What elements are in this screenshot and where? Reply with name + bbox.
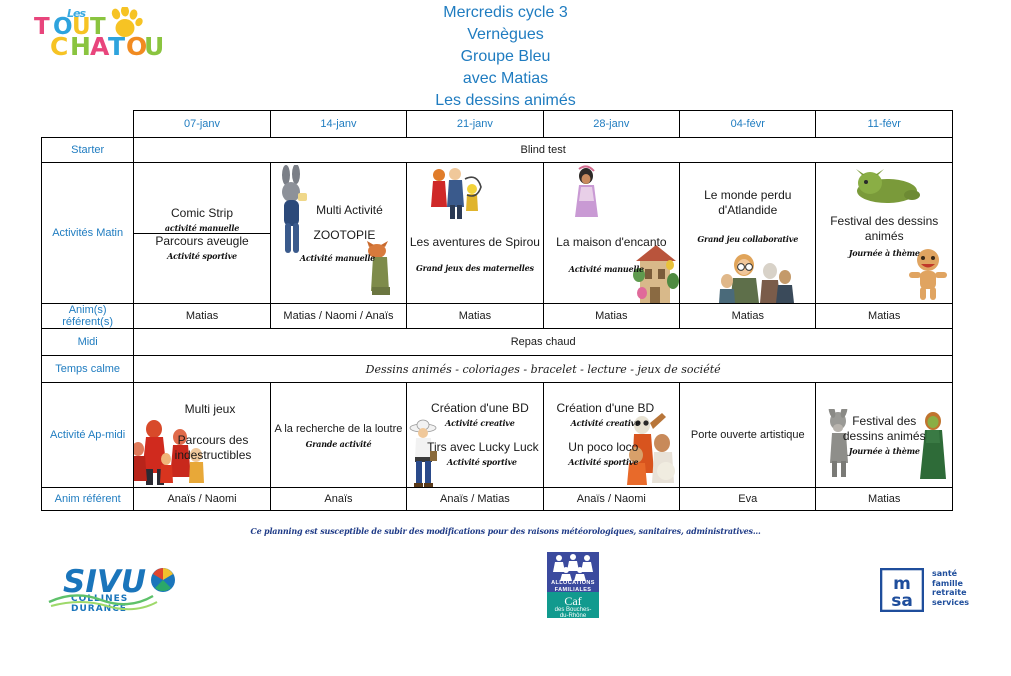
disclaimer-text: Ce planning est susceptible de subir des…	[0, 526, 1011, 536]
matin-cell-4-content: Le monde perdu d'Atlandide Grand jeu col…	[680, 222, 815, 244]
sivu-tagline: COLLINES DURANCE	[71, 594, 185, 614]
apmidi-cell-3: Création d'une BD Activité creative Un p…	[543, 383, 679, 488]
apmidi-cell-2: Création d'une BD Activité creative Tirs…	[407, 383, 543, 488]
planning-table: 07-janv 14-janv 21-janv 28-janv 04-févr …	[41, 110, 953, 511]
row-label-anim-apmidi: Anim référent	[42, 488, 134, 511]
apmidi-cell-0: Multi jeux Parcours des indestructibles	[134, 383, 270, 488]
corner-cell	[42, 111, 134, 138]
date-header-5: 11-févr	[816, 111, 953, 138]
apmidi-cell-5-content: Festival des dessins animés Journée à th…	[816, 414, 952, 456]
matin-cell-5-title: Festival des dessins animés	[829, 214, 939, 244]
matin-cell-5: Festival des dessins animés Journée à th…	[816, 163, 953, 304]
row-anim-apmidi: Anim référent Anaïs / Naomi Anaïs Anaïs …	[42, 488, 953, 511]
apmidi-cell-3-sub: Activité creative	[571, 418, 641, 428]
row-label-matin: Activités Matin	[42, 163, 134, 304]
apmidi-cell-2-sub: Activité creative	[445, 418, 515, 428]
apmidi-cell-3-title: Création d'une BD	[556, 401, 654, 416]
apmidi-cell-3-content: Création d'une BD Activité creative Un p…	[544, 403, 679, 467]
matin-cell-1-title: Multi Activité	[316, 203, 383, 218]
apmidi-cell-3-sub2: Activité sportive	[568, 457, 638, 467]
matin-cell-4-sub: Grand jeu collaborative	[697, 234, 798, 244]
matin-cell-0-bottom-sub: Activité sportive	[167, 251, 237, 261]
matin-cell-3-title: La maison d'encanto	[556, 235, 666, 250]
apmidi-cell-1-sub: Grande activité	[306, 439, 372, 449]
anim-apmidi-2: Anaïs / Matias	[407, 488, 543, 511]
row-label-apmidi: Activité Ap-midi	[42, 383, 134, 488]
matin-cell-3-sub: Activité manuelle	[569, 264, 644, 274]
row-anim-matin: Anim(s) référent(s) Matias Matias / Naom…	[42, 304, 953, 329]
matin-cell-2: Les aventures de Spirou Grand jeux des m…	[407, 163, 543, 304]
matin-cell-2-sub: Grand jeux des maternelles	[416, 263, 534, 273]
caf-logo: ALLOCATIONS FAMILIALES Caf des Bouches- …	[545, 550, 601, 620]
shrek-icon	[854, 169, 920, 205]
anim-apmidi-5: Matias	[816, 488, 953, 511]
anim-matin-0: Matias	[134, 304, 270, 329]
sivu-logo: SIVU COLLINES DURANCE	[45, 558, 185, 614]
anim-matin-2: Matias	[407, 304, 543, 329]
row-starter: Starter Blind test	[42, 138, 953, 163]
date-header-2: 21-janv	[407, 111, 543, 138]
matin-cell-5-content: Festival des dessins animés Journée à th…	[816, 208, 952, 258]
matin-cell-4-title: Le monde perdu d'Atlandide	[680, 188, 815, 218]
matin-cell-2-title: Les aventures de Spirou	[410, 235, 540, 250]
matin-cell-4: Le monde perdu d'Atlandide Grand jeu col…	[680, 163, 816, 304]
matin-cell-0-top-title: Comic Strip	[171, 206, 233, 221]
msa-line-3: services	[932, 598, 969, 608]
table-header-row: 07-janv 14-janv 21-janv 28-janv 04-févr …	[42, 111, 953, 138]
svg-text:sa: sa	[891, 591, 913, 611]
apmidi-cell-1-title: A la recherche de la loutre	[275, 422, 403, 437]
midi-merged-cell: Repas chaud	[134, 329, 953, 356]
caf-region-line2: du-Rhône	[545, 613, 601, 619]
row-label-temps-calme: Temps calme	[42, 356, 134, 383]
apmidi-cell-0-title2: Parcours des indestructibles	[163, 433, 263, 463]
starter-merged-cell: Blind test	[134, 138, 953, 163]
title-line-4: avec Matias	[0, 68, 1011, 90]
apmidi-cell-2-sub2: Activité sportive	[447, 457, 517, 467]
date-header-3: 28-janv	[543, 111, 679, 138]
row-activite-apmidi: Activité Ap-midi Multi jeux Parcours des…	[42, 383, 953, 488]
matin-cell-3-content: La maison d'encanto Activité manuelle	[544, 193, 679, 274]
row-temps-calme: Temps calme Dessins animés - coloriages …	[42, 356, 953, 383]
apmidi-cell-4-title: Porte ouverte artistique	[691, 428, 805, 443]
apmidi-cell-2-content: Création d'une BD Activité creative Tirs…	[407, 403, 542, 467]
anim-matin-5: Matias	[816, 304, 953, 329]
apmidi-cell-1: A la recherche de la loutre Grande activ…	[270, 383, 406, 488]
title-line-3: Groupe Bleu	[0, 46, 1011, 68]
temps-calme-merged-cell: Dessins animés - coloriages - bracelet -…	[134, 356, 953, 383]
matin-cell-3: La maison d'encanto Activité manuelle	[543, 163, 679, 304]
matin-cell-2-content: Les aventures de Spirou Grand jeux des m…	[407, 193, 542, 273]
date-header-0: 07-janv	[134, 111, 270, 138]
date-header-1: 14-janv	[270, 111, 406, 138]
apmidi-cell-0-title: Multi jeux	[185, 402, 236, 417]
matin-cell-1-sub: Activité manuelle	[300, 253, 375, 263]
row-label-starter: Starter	[42, 138, 134, 163]
anim-apmidi-3: Anaïs / Naomi	[543, 488, 679, 511]
apmidi-cell-5-sub: Journée à thème	[849, 446, 920, 456]
page-title: Mercredis cycle 3 Vernègues Groupe Bleu …	[0, 2, 1011, 112]
apmidi-cell-5: Festival des dessins animés Journée à th…	[816, 383, 953, 488]
matin-cell-0-top-sub: activité manuelle	[165, 223, 239, 233]
msa-line-0: santé	[932, 569, 969, 579]
anim-apmidi-4: Eva	[680, 488, 816, 511]
matin-cell-5-sub: Journée à thème	[849, 248, 920, 258]
apmidi-cell-4: Porte ouverte artistique	[680, 383, 816, 488]
matin-cell-0-bottom-title: Parcours aveugle	[155, 234, 248, 249]
msa-monogram-icon: m sa	[880, 568, 924, 612]
apmidi-cell-1-content: A la recherche de la loutre Grande activ…	[271, 422, 406, 449]
row-midi: Midi Repas chaud	[42, 329, 953, 356]
row-activites-matin: Activités Matin Comic Strip activité man…	[42, 163, 953, 304]
anim-matin-4: Matias	[680, 304, 816, 329]
page-header: Les T O U T C H A T O U Mercredis cycle …	[0, 0, 1011, 110]
date-header-4: 04-févr	[680, 111, 816, 138]
anim-apmidi-1: Anaïs	[270, 488, 406, 511]
title-line-2: Vernègues	[0, 24, 1011, 46]
apmidi-cell-0-content: Multi jeux Parcours des indestructibles	[134, 408, 269, 463]
apmidi-cell-2-title2: Tirs avec Lucky Luck	[427, 440, 539, 455]
msa-line-1: famille	[932, 579, 969, 589]
apmidi-cell-5-title: Festival des dessins animés	[832, 414, 936, 444]
matin-cell-0: Comic Strip activité manuelle Parcours a…	[134, 163, 270, 304]
svg-text:m: m	[893, 574, 911, 594]
matin-cell-0-top: Comic Strip activité manuelle	[134, 206, 269, 234]
apmidi-cell-3-title2: Un poco loco	[568, 440, 638, 455]
matin-cell-1-title2: ZOOTOPIE	[314, 228, 376, 243]
row-label-midi: Midi	[42, 329, 134, 356]
title-line-5: Les dessins animés	[0, 90, 1011, 112]
atlantis-characters-icon	[718, 251, 794, 303]
matin-cell-1-content: Multi Activité ZOOTOPIE Activité manuell…	[271, 203, 406, 263]
msa-logo: m sa santé famille retraite services	[880, 568, 985, 614]
apmidi-cell-4-content: Porte ouverte artistique	[680, 428, 815, 443]
anim-matin-1: Matias / Naomi / Anaïs	[270, 304, 406, 329]
matin-cell-0-bottom: Parcours aveugle Activité sportive	[134, 234, 269, 261]
title-line-1: Mercredis cycle 3	[0, 2, 1011, 24]
anim-matin-3: Matias	[543, 304, 679, 329]
anim-apmidi-0: Anaïs / Naomi	[134, 488, 270, 511]
msa-line-2: retraite	[932, 588, 969, 598]
apmidi-cell-2-title: Création d'une BD	[431, 401, 529, 416]
matin-cell-1: Multi Activité ZOOTOPIE Activité manuell…	[270, 163, 406, 304]
row-label-anim-matin: Anim(s) référent(s)	[42, 304, 134, 329]
